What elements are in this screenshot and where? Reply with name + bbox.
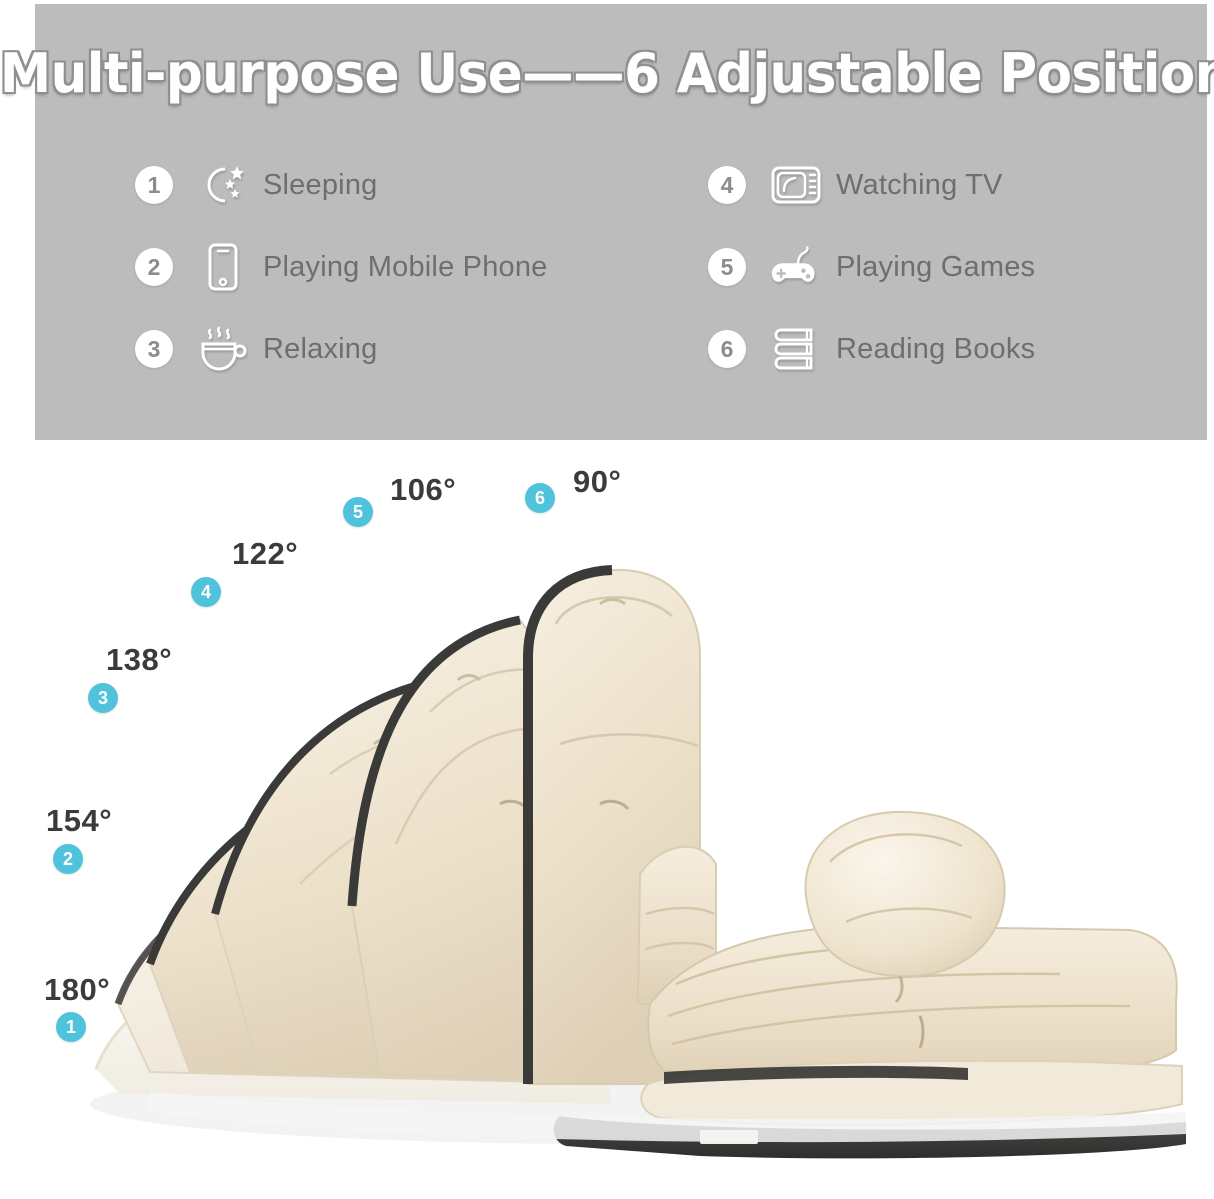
position-badge-6: 6 — [525, 483, 555, 513]
position-badge-1: 1 — [56, 1012, 86, 1042]
position-callout-90: 90° 6 — [573, 466, 621, 497]
television-icon — [770, 162, 822, 208]
position-badge-3: 3 — [88, 683, 118, 713]
angle-value: 90° — [573, 466, 621, 497]
moon-stars-icon — [197, 162, 249, 208]
use-case-item-reading-books: 6 Reading Books — [708, 308, 1207, 390]
use-case-number-badge: 2 — [135, 248, 173, 286]
use-case-number-badge: 3 — [135, 330, 173, 368]
use-case-label: Relaxing — [263, 333, 377, 366]
use-case-column-left: 1 Sleeping 2 — [35, 144, 621, 424]
position-callout-106: 106° 5 — [390, 474, 456, 505]
position-badge-2: 2 — [53, 844, 83, 874]
use-case-label: Sleeping — [263, 169, 377, 202]
angle-value: 106° — [390, 474, 456, 505]
use-case-number-badge: 5 — [708, 248, 746, 286]
position-callout-154: 154° 2 — [46, 805, 112, 836]
position-badge-5: 5 — [343, 497, 373, 527]
use-case-number-badge: 4 — [708, 166, 746, 204]
use-case-item-watching-tv: 4 Watching TV — [708, 144, 1207, 226]
position-badge-4: 4 — [191, 577, 221, 607]
use-case-number-badge: 1 — [135, 166, 173, 204]
use-case-column-right: 4 Watching TV — [621, 144, 1207, 424]
floor-sofa-illustration — [0, 444, 1214, 1199]
use-case-item-mobile-phone: 2 Playing Mobile Phone — [135, 226, 621, 308]
position-callout-122: 122° 4 — [232, 538, 298, 569]
use-case-item-relaxing: 3 Relaxing — [135, 308, 621, 390]
angle-value: 138° — [106, 644, 172, 675]
page-title: Multi-purpose Use——6 Adjustable Position… — [0, 42, 1214, 105]
coffee-cup-icon — [197, 326, 249, 372]
head-pillow — [805, 812, 1004, 976]
angle-value: 180° — [44, 974, 110, 1005]
use-case-item-sleeping: 1 Sleeping — [135, 144, 621, 226]
gamepad-icon — [770, 244, 822, 290]
use-case-label: Reading Books — [836, 333, 1035, 366]
product-photo: 180° 1 154° 2 138° 3 122° 4 106° 5 90° 6 — [0, 444, 1214, 1199]
use-case-item-playing-games: 5 Playing Games — [708, 226, 1207, 308]
use-case-list: 1 Sleeping 2 — [35, 144, 1207, 424]
infographic-page: Multi-purpose Use——6 Adjustable Position… — [0, 0, 1214, 1199]
angle-value: 154° — [46, 805, 112, 836]
position-callout-138: 138° 3 — [106, 644, 172, 675]
use-case-label: Playing Mobile Phone — [263, 251, 548, 284]
angle-value: 122° — [232, 538, 298, 569]
position-callout-180: 180° 1 — [44, 974, 110, 1005]
use-case-label: Watching TV — [836, 169, 1003, 202]
books-stack-icon — [770, 326, 822, 372]
use-case-label: Playing Games — [836, 251, 1035, 284]
mobile-phone-icon — [197, 244, 249, 290]
header-panel: Multi-purpose Use——6 Adjustable Position… — [35, 4, 1207, 440]
use-case-number-badge: 6 — [708, 330, 746, 368]
